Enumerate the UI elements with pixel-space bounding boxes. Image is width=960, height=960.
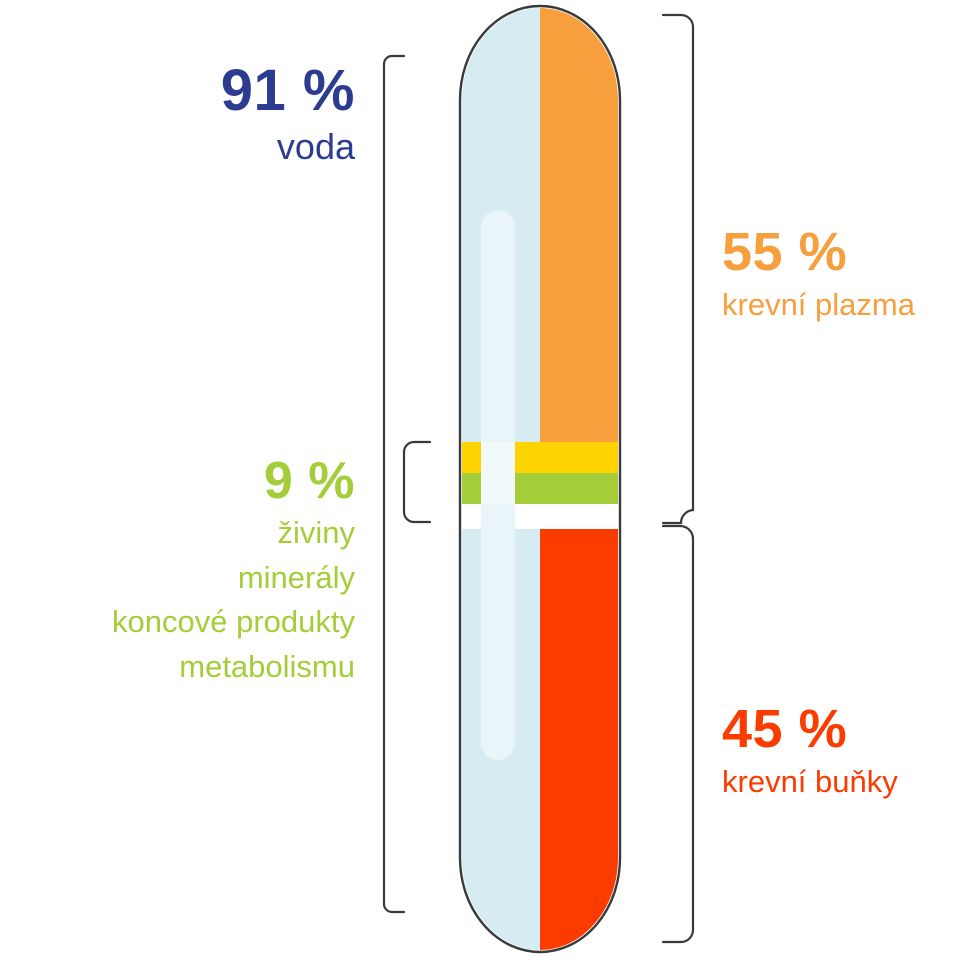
- label-nutrients-line-3: koncové produkty: [20, 604, 355, 641]
- blood-composition-infographic: 91 % voda 9 % živiny minerály koncové pr…: [0, 0, 960, 960]
- label-water-caption: voda: [40, 126, 355, 168]
- band-separator-white: [455, 504, 625, 529]
- band-plasma-orange: [540, 0, 625, 442]
- label-water: 91 % voda: [40, 62, 355, 168]
- label-plasma: 55 % krevní plazma: [722, 225, 952, 324]
- label-nutrients-percent: 9 %: [20, 455, 355, 507]
- tube-fill-group: [455, 0, 625, 960]
- label-cells-percent: 45 %: [722, 702, 952, 756]
- bracket-plasma: [663, 15, 693, 523]
- bracket-water: [384, 56, 404, 912]
- label-cells-caption: krevní buňky: [722, 764, 952, 801]
- label-plasma-percent: 55 %: [722, 225, 952, 279]
- label-nutrients-line-1: živiny: [20, 515, 355, 552]
- band-nutrient-yellow: [455, 442, 625, 473]
- bracket-cells: [663, 526, 693, 942]
- tube-highlight-overlay-yellow: [481, 442, 515, 473]
- label-nutrients-line-2: minerály: [20, 560, 355, 597]
- label-nutrients-line-4: metabolismu: [20, 649, 355, 686]
- tube-highlight-overlay-green: [481, 473, 515, 504]
- label-water-percent: 91 %: [40, 62, 355, 120]
- band-nutrient-green: [455, 473, 625, 504]
- label-plasma-caption: krevní plazma: [722, 287, 952, 324]
- bracket-nutrients: [404, 442, 430, 522]
- label-cells: 45 % krevní buňky: [722, 702, 952, 801]
- label-nutrients: 9 % živiny minerály koncové produkty met…: [20, 455, 355, 685]
